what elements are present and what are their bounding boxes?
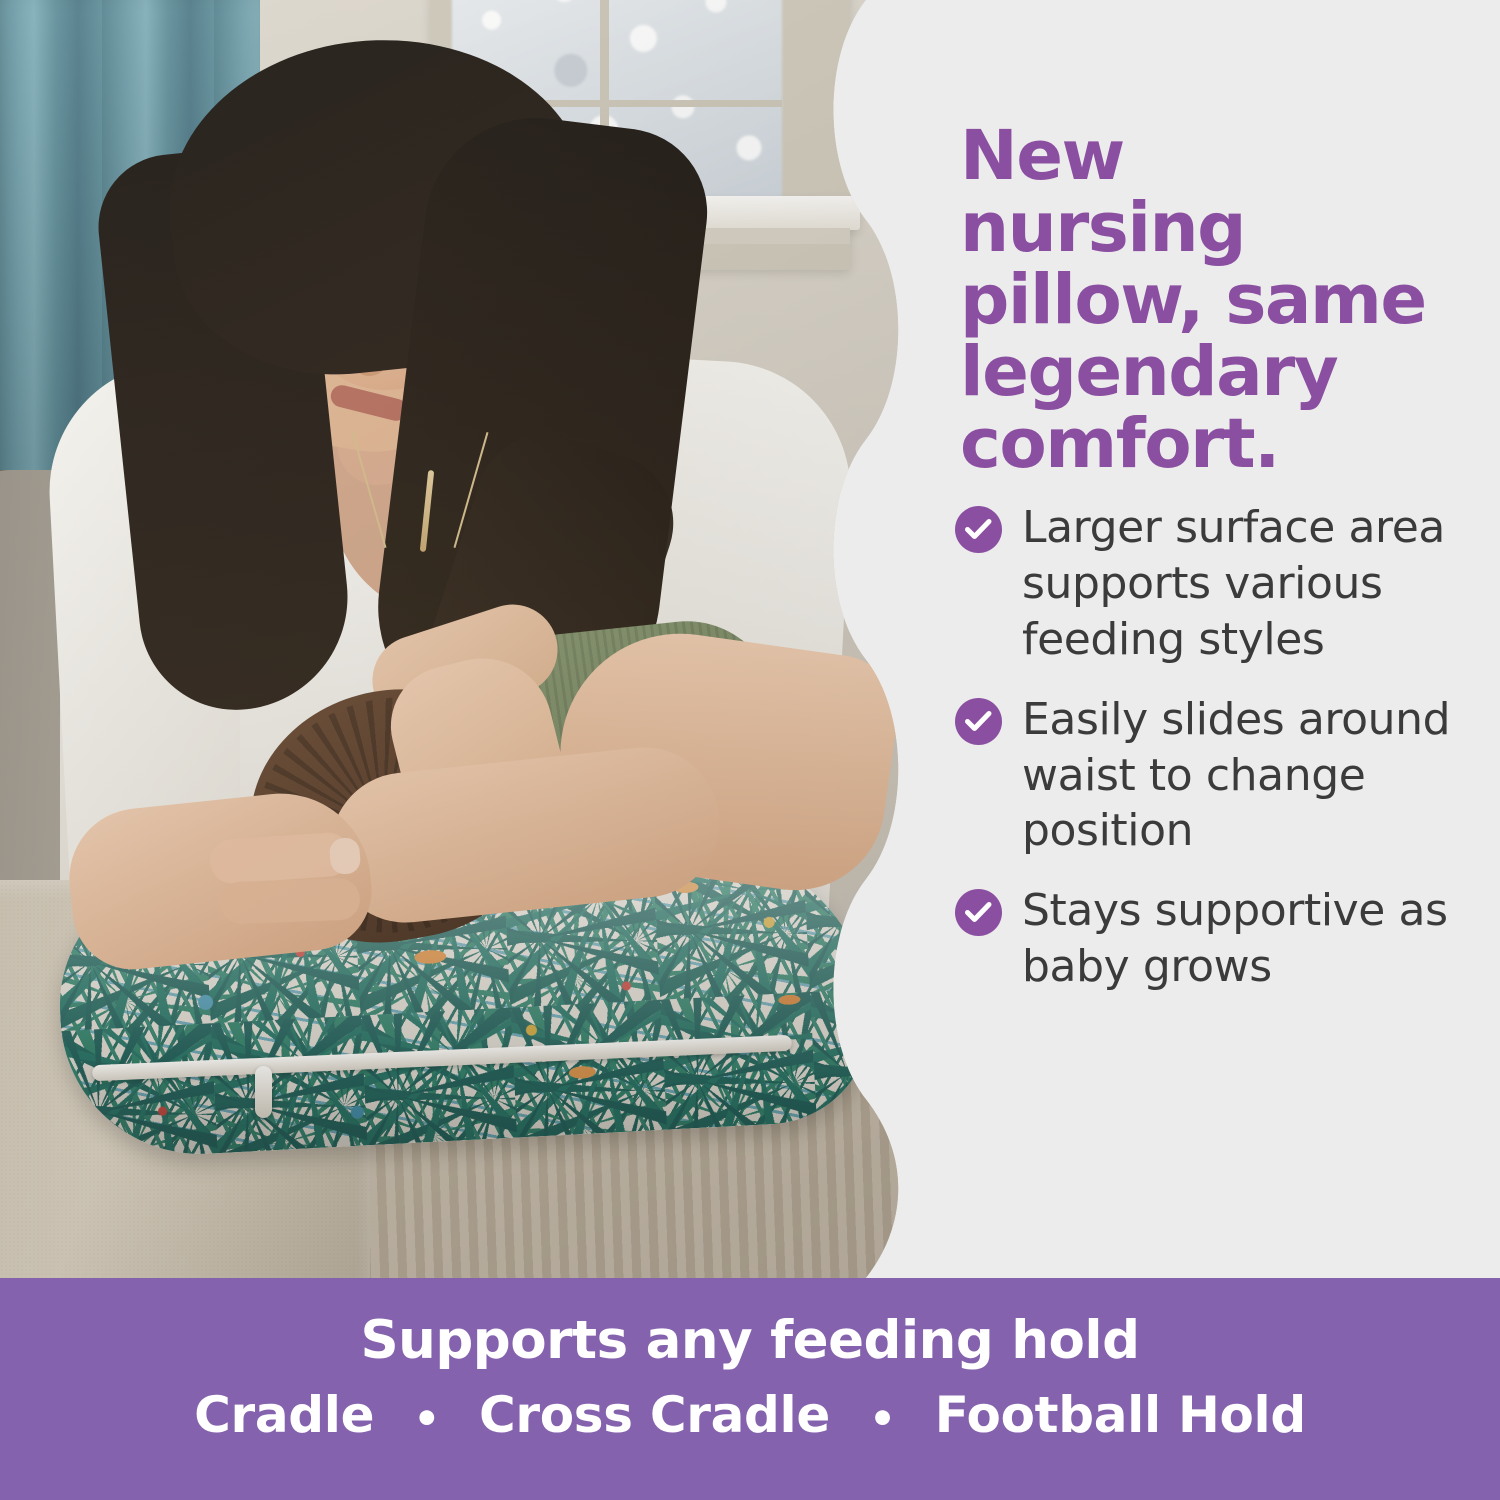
list-item-label: Stays supportive as baby grows	[1022, 883, 1455, 995]
feature-list: Larger surface area supports various fee…	[955, 500, 1455, 1019]
hold-cradle: Cradle	[194, 1386, 374, 1444]
hold-football: Football Hold	[935, 1386, 1306, 1444]
list-item: Easily slides around waist to change pos…	[955, 692, 1455, 860]
feeding-hold-banner: Supports any feeding hold Cradle • Cross…	[0, 1278, 1500, 1500]
page-title: New nursing pillow, same legendary comfo…	[960, 120, 1430, 480]
bullet-separator-icon: •	[847, 1394, 918, 1443]
copy-panel: New nursing pillow, same legendary comfo…	[860, 0, 1500, 1278]
list-item: Stays supportive as baby grows	[955, 883, 1455, 995]
check-icon	[955, 889, 1002, 936]
bullet-separator-icon: •	[391, 1394, 462, 1443]
hero-photo	[0, 0, 900, 1278]
banner-title: Supports any feeding hold	[0, 1310, 1500, 1371]
mother-finger	[219, 878, 360, 925]
check-icon	[955, 698, 1002, 745]
banner-holds-row: Cradle • Cross Cradle • Football Hold	[0, 1386, 1500, 1444]
list-item: Larger surface area supports various fee…	[955, 500, 1455, 668]
list-item-label: Easily slides around waist to change pos…	[1022, 692, 1455, 860]
mother-fingernail	[329, 837, 361, 875]
check-icon	[955, 506, 1002, 553]
list-item-label: Larger surface area supports various fee…	[1022, 500, 1455, 668]
product-infographic: New nursing pillow, same legendary comfo…	[0, 0, 1500, 1500]
pillow-zipper-pull	[255, 1066, 272, 1118]
hold-cross-cradle: Cross Cradle	[479, 1386, 830, 1444]
